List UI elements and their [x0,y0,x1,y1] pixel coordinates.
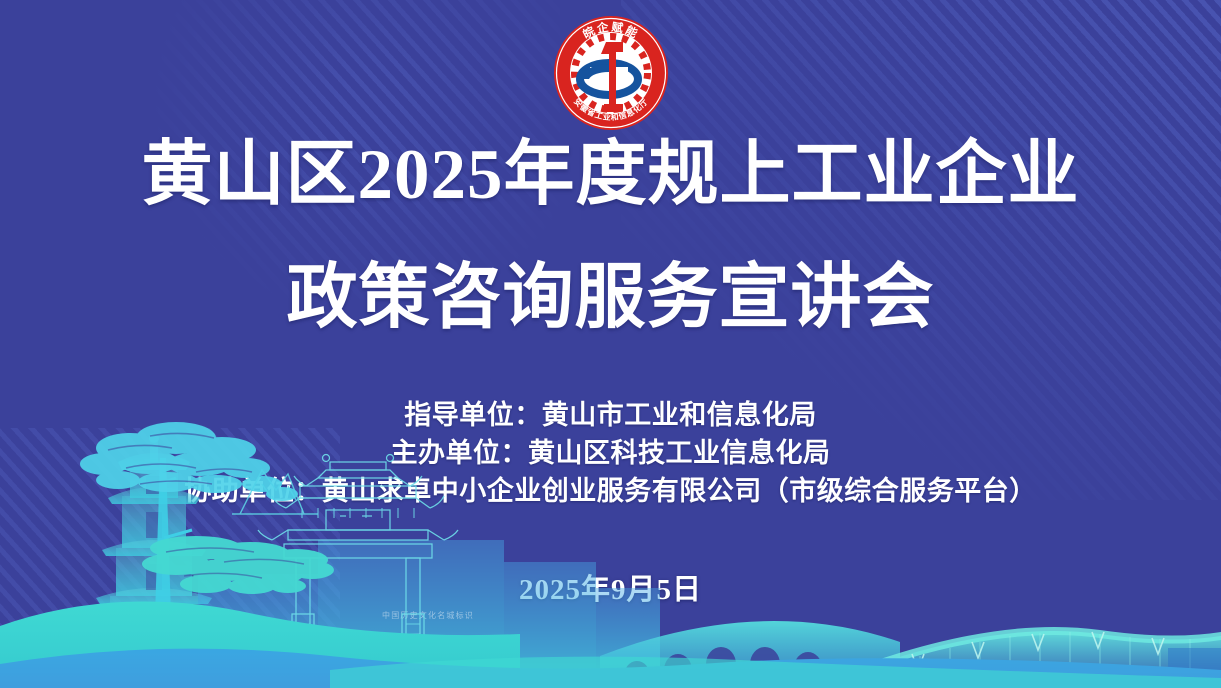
poster-canvas: 皖企赋能 安徽省工业和信息化厅 黄山区2025年度规上工业企业 政策咨询服务宣讲… [0,0,1221,688]
foreground-hill-cyan-right [330,657,1221,688]
organization-emblem-logo: 皖企赋能 安徽省工业和信息化厅 [550,12,672,134]
event-date: 2025年9月5日 [0,566,1221,608]
organizer-list: 指导单位：黄山市工业和信息化局 主办单位：黄山区科技工业信息化局 协助单位：黄山… [0,396,1221,510]
bridge-cable-pylons [912,632,1164,670]
organizer-line-guidance: 指导单位：黄山市工业和信息化局 [0,396,1221,434]
poster-title-block: 黄山区2025年度规上工业企业 政策咨询服务宣讲会 [0,140,1221,334]
poster-title-line-2: 政策咨询服务宣讲会 [0,263,1221,334]
foreground-hill-cyan [0,602,520,688]
organizer-line-host: 主办单位：黄山区科技工业信息化局 [0,434,1221,472]
building-sign-text: 中国历史文化名城标识 [382,610,474,620]
arched-stone-bridge [600,621,900,688]
city-building-silhouettes [60,540,660,688]
foreground-hill-blue [0,649,1221,688]
organizer-line-support: 协助单位：黄山求卓中小企业创业服务有限公司（市级综合服务平台） [0,472,1221,510]
emblem-icon: 皖企赋能 安徽省工业和信息化厅 [550,12,672,134]
modern-viaduct-bridge [860,627,1221,688]
poster-title-line-1: 黄山区2025年度规上工业企业 [0,140,1221,211]
